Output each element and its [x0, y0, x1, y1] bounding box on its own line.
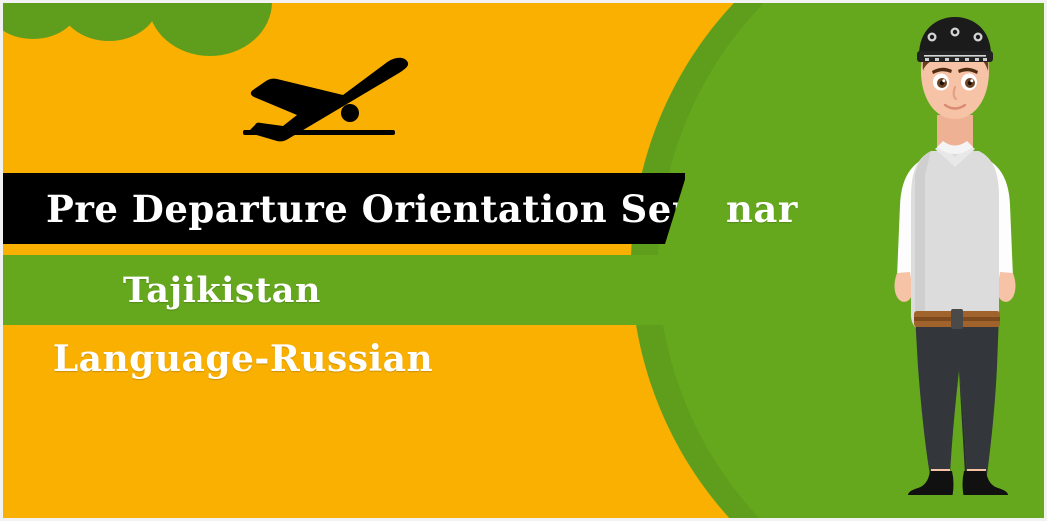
scallop-circle-2: [59, 0, 159, 41]
title-banner: Pre Departure Orientation Seminar: [3, 173, 685, 244]
language-row: Language-Russian: [3, 325, 663, 393]
country-name: Tajikistan: [123, 270, 321, 311]
tajik-man-character-icon: [875, 15, 1035, 495]
scallop-circle-3: [148, 0, 272, 56]
country-banner: Tajikistan: [3, 255, 709, 325]
poster-canvas: Pre Departure Orientation Seminar Tajiki…: [0, 0, 1047, 521]
language-label: Language-Russian: [53, 338, 433, 380]
runway-line-icon: [243, 130, 395, 135]
